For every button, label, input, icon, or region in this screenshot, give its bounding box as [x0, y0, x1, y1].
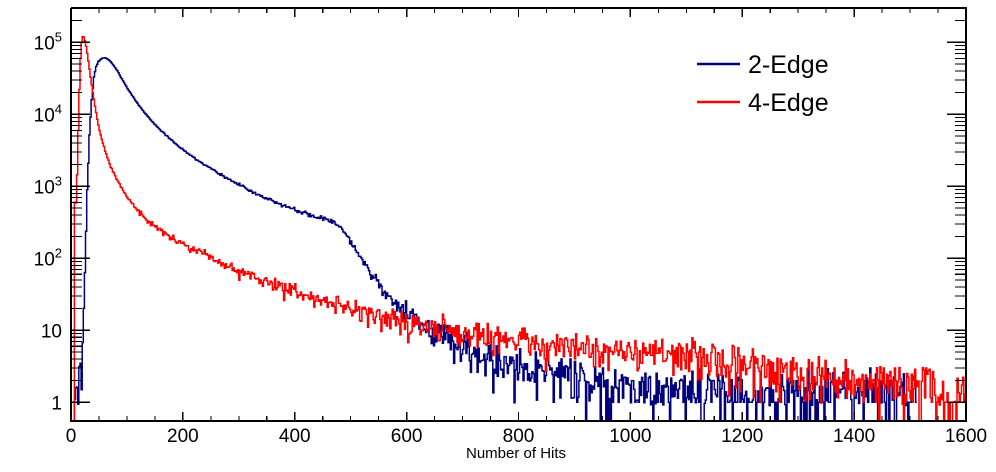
x-axis-title: Number of Hits: [466, 445, 566, 462]
y-tick-label: 10: [41, 321, 62, 342]
plot-background: [0, 0, 996, 472]
x-tick-label: 1000: [609, 426, 651, 447]
x-tick-label: 800: [503, 426, 535, 447]
y-tick-label: 1: [51, 393, 62, 414]
x-tick-label: 1400: [833, 426, 875, 447]
legend-label-4-edge: 4-Edge: [748, 89, 829, 117]
x-tick-label: 0: [66, 426, 77, 447]
histogram-plot: 0200400600800100012001400160011010210310…: [0, 0, 996, 472]
x-tick-label: 1600: [945, 426, 987, 447]
x-tick-label: 1200: [721, 426, 763, 447]
x-tick-label: 200: [167, 426, 199, 447]
x-tick-label: 600: [391, 426, 423, 447]
x-tick-label: 400: [279, 426, 311, 447]
legend-label-2-edge: 2-Edge: [748, 51, 829, 79]
chart-canvas: 0200400600800100012001400160011010210310…: [0, 0, 996, 472]
